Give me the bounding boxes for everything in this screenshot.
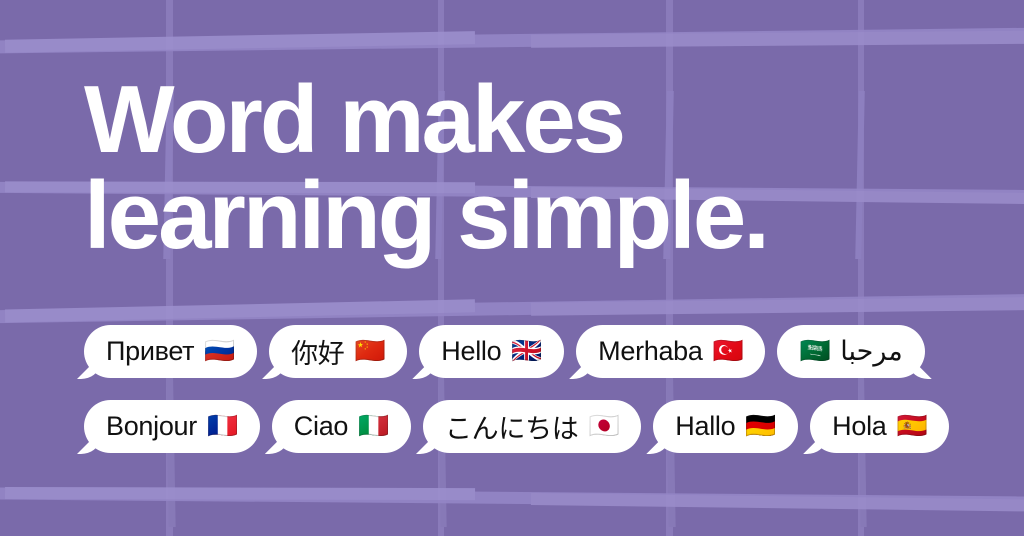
flag-jp-icon: 🇯🇵 — [588, 414, 619, 439]
greeting-label: Hola — [832, 411, 886, 442]
flag-fr-icon: 🇫🇷 — [207, 414, 238, 439]
greeting-label: こんにちは — [445, 407, 579, 446]
greeting-bubble-italian[interactable]: Ciao 🇮🇹 — [272, 400, 411, 453]
greeting-row-1: Привет 🇷🇺 你好 🇨🇳 Hello 🇬🇧 Merhaba 🇹🇷 مرحب… — [84, 325, 925, 378]
flag-es-icon: 🇪🇸 — [897, 414, 928, 439]
greeting-label: Bonjour — [106, 411, 197, 442]
grid-horizontal-line — [0, 293, 1024, 324]
page-title: Word makes learning simple. — [84, 72, 884, 264]
flag-cn-icon: 🇨🇳 — [354, 339, 385, 364]
flag-tr-icon: 🇹🇷 — [713, 339, 744, 364]
flag-gb-icon: 🇬🇧 — [511, 339, 542, 364]
flag-it-icon: 🇮🇹 — [358, 414, 389, 439]
greeting-bubble-japanese[interactable]: こんにちは 🇯🇵 — [423, 400, 641, 453]
flag-ru-icon: 🇷🇺 — [204, 339, 235, 364]
greeting-bubble-chinese[interactable]: 你好 🇨🇳 — [269, 325, 407, 378]
flag-sa-icon: 🇸🇦 — [799, 339, 830, 364]
greeting-label: Hallo — [675, 411, 735, 442]
greeting-bubble-german[interactable]: Hallo 🇩🇪 — [653, 400, 798, 453]
greeting-bubble-russian[interactable]: Привет 🇷🇺 — [84, 325, 257, 378]
greeting-bubble-french[interactable]: Bonjour 🇫🇷 — [84, 400, 260, 453]
greeting-label: 你好 — [291, 332, 344, 371]
greeting-bubble-arabic[interactable]: مرحبا 🇸🇦 — [777, 325, 924, 378]
grid-horizontal-line — [0, 27, 1024, 54]
greeting-label: Hello — [441, 336, 501, 367]
greeting-label: Ciao — [294, 411, 348, 442]
promo-banner: Word makes learning simple. Привет 🇷🇺 你好… — [0, 0, 1024, 536]
grid-horizontal-line — [0, 487, 1024, 509]
greeting-label: Merhaba — [598, 336, 702, 367]
flag-de-icon: 🇩🇪 — [745, 414, 776, 439]
greeting-row-2: Bonjour 🇫🇷 Ciao 🇮🇹 こんにちは 🇯🇵 Hallo 🇩🇪 Hol… — [84, 400, 949, 453]
greeting-bubble-english[interactable]: Hello 🇬🇧 — [419, 325, 564, 378]
greeting-label: مرحبا — [840, 336, 902, 367]
greeting-bubble-spanish[interactable]: Hola 🇪🇸 — [810, 400, 949, 453]
greeting-label: Привет — [106, 336, 194, 367]
greeting-bubble-turkish[interactable]: Merhaba 🇹🇷 — [576, 325, 765, 378]
